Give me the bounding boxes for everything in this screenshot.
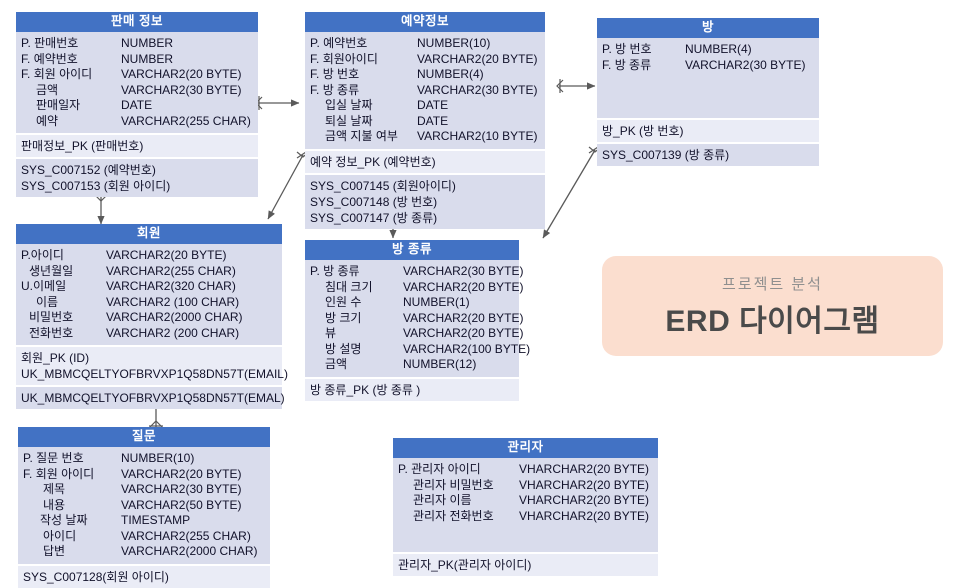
entity-fk-section: SYS_C007152 (예약번호) SYS_C007153 (회원 아이디) [16, 159, 258, 197]
attribute-row: 예약 VARCHAR2(255 CHAR) [16, 114, 258, 130]
attribute-row: 생년월일 VARCHAR2(255 CHAR) [16, 264, 282, 280]
relation-sales-to-reservation [256, 96, 299, 110]
constraint-line: UK_MBMCQELTYOFBRVXP1Q58DN57T(EMAIL) [21, 366, 277, 382]
constraint-line: 관리자_PK(관리자 아이디) [398, 557, 653, 573]
attribute-row: F. 방 종류 VARCHAR2(30 BYTE) [305, 83, 545, 99]
attribute-name: 생년월일 [16, 264, 106, 280]
attribute-type: VARCHAR2 (200 CHAR) [106, 326, 282, 342]
attribute-type: VHARCHAR2(20 BYTE) [519, 509, 658, 525]
attribute-name: 뷰 [305, 326, 403, 342]
attribute-type: VARCHAR2(255 CHAR) [121, 114, 258, 130]
attribute-name: F. 방 번호 [305, 67, 417, 83]
attribute-name: 방 설명 [305, 342, 403, 358]
attribute-type: VARCHAR2(255 CHAR) [106, 264, 282, 280]
attribute-type: NUMBER(4) [685, 42, 819, 58]
attribute-name: 침대 크기 [305, 280, 403, 296]
attribute-type: NUMBER [121, 36, 258, 52]
attribute-row: F. 방 번호 NUMBER(4) [305, 67, 545, 83]
attribute-type: VHARCHAR2(20 BYTE) [519, 462, 658, 478]
attribute-name: P.아이디 [16, 248, 106, 264]
attribute-row: 내용 VARCHAR2(50 BYTE) [18, 498, 270, 514]
attribute-row: 관리자 이름 VHARCHAR2(20 BYTE) [393, 493, 658, 509]
attribute-row: 금액 지불 여부 VARCHAR2(10 BYTE) [305, 129, 545, 145]
entity-title: 방 [597, 18, 819, 38]
attribute-row: 작성 날짜 TIMESTAMP [18, 513, 270, 529]
attribute-row: 이름 VARCHAR2 (100 CHAR) [16, 295, 282, 311]
attribute-row: U.이메일 VARCHAR2(320 CHAR) [16, 279, 282, 295]
entity-fk-section: SYS_C007128(회원 아이디) [18, 566, 270, 588]
entity-room-type[interactable]: 방 종류 P. 방 종류 VARCHAR2(30 BYTE) 침대 크기 VAR… [305, 240, 519, 401]
attribute-row: 방 크기 VARCHAR2(20 BYTE) [305, 311, 519, 327]
constraint-line: SYS_C007145 (회원아이디) [310, 178, 540, 194]
entity-attributes: P. 관리자 아이디 VHARCHAR2(20 BYTE) 관리자 비밀번호 V… [393, 458, 658, 552]
attribute-type: NUMBER(12) [403, 357, 519, 373]
entity-question[interactable]: 질문 P. 질문 번호 NUMBER(10) F. 회원 아이디 VARCHAR… [18, 427, 270, 588]
constraint-line: SYS_C007128(회원 아이디) [23, 569, 265, 585]
attribute-type: VARCHAR2(20 BYTE) [106, 248, 282, 264]
constraint-line: UK_MBMCQELTYOFBRVXP1Q58DN57T(EMAL) [21, 390, 277, 406]
attribute-row: 침대 크기 VARCHAR2(20 BYTE) [305, 280, 519, 296]
attribute-row: P. 질문 번호 NUMBER(10) [18, 451, 270, 467]
attribute-type: VARCHAR2(50 BYTE) [121, 498, 270, 514]
attribute-type: DATE [121, 98, 258, 114]
entity-member[interactable]: 회원 P.아이디 VARCHAR2(20 BYTE) 생년월일 VARCHAR2… [16, 224, 282, 409]
attribute-row: 입실 날짜 DATE [305, 98, 545, 114]
entity-title: 질문 [18, 427, 270, 447]
entity-title: 방 종류 [305, 240, 519, 260]
attribute-row: 판매일자 DATE [16, 98, 258, 114]
entity-sales-info[interactable]: 판매 정보 P. 판매번호 NUMBER F. 예약번호 NUMBER F. 회… [16, 12, 258, 197]
attribute-type: VARCHAR2(2000 CHAR) [121, 544, 270, 560]
attribute-type: VARCHAR2(20 BYTE) [403, 311, 523, 327]
attribute-row: 제목 VARCHAR2(30 BYTE) [18, 482, 270, 498]
entity-fk-section: SYS_C007145 (회원아이디) SYS_C007148 (방 번호) S… [305, 175, 545, 229]
attribute-name: 관리자 비밀번호 [393, 478, 519, 494]
entity-attributes: P.아이디 VARCHAR2(20 BYTE) 생년월일 VARCHAR2(25… [16, 244, 282, 345]
attribute-name: P. 방 종류 [305, 264, 403, 280]
attribute-name: 퇴실 날짜 [305, 114, 417, 130]
entity-attributes: P. 예약번호 NUMBER(10) F. 회원아이디 VARCHAR2(20 … [305, 32, 545, 149]
attribute-row: 금액 VARCHAR2(30 BYTE) [16, 83, 258, 99]
relation-reservation-to-room [557, 79, 595, 93]
attribute-type: VARCHAR2(20 BYTE) [403, 280, 523, 296]
attribute-row: 금액 NUMBER(12) [305, 357, 519, 373]
relation-room-to-roomtype [543, 145, 601, 238]
attribute-name: P. 방 번호 [597, 42, 685, 58]
attribute-name: U.이메일 [16, 279, 106, 295]
attribute-type: VARCHAR2 (100 CHAR) [106, 295, 282, 311]
attribute-row: 관리자 전화번호 VHARCHAR2(20 BYTE) [393, 509, 658, 525]
constraint-line: 예약 정보_PK (예약번호) [310, 154, 540, 170]
attribute-row: F. 회원아이디 VARCHAR2(20 BYTE) [305, 52, 545, 68]
entity-pk-section: 예약 정보_PK (예약번호) [305, 151, 545, 173]
entity-attributes: P. 방 번호 NUMBER(4) F. 방 종류 VARCHAR2(30 BY… [597, 38, 819, 118]
attribute-row: P. 예약번호 NUMBER(10) [305, 36, 545, 52]
attribute-row: P. 판매번호 NUMBER [16, 36, 258, 52]
attribute-type: VARCHAR2(20 BYTE) [403, 326, 523, 342]
attribute-row: 방 설명 VARCHAR2(100 BYTE) [305, 342, 519, 358]
attribute-row: 뷰 VARCHAR2(20 BYTE) [305, 326, 519, 342]
entity-pk-section: 방_PK (방 번호) [597, 120, 819, 142]
attribute-row: 전화번호 VARCHAR2 (200 CHAR) [16, 326, 282, 342]
attribute-row: 인원 수 NUMBER(1) [305, 295, 519, 311]
entity-room[interactable]: 방 P. 방 번호 NUMBER(4) F. 방 종류 VARCHAR2(30 … [597, 18, 819, 166]
attribute-name: P. 예약번호 [305, 36, 417, 52]
attribute-type: DATE [417, 98, 545, 114]
entity-title: 판매 정보 [16, 12, 258, 32]
attribute-type: NUMBER(10) [417, 36, 545, 52]
attribute-type: VARCHAR2(30 BYTE) [403, 264, 523, 280]
attribute-name: F. 회원 아이디 [18, 467, 121, 483]
attribute-type: VARCHAR2(30 BYTE) [121, 83, 258, 99]
title-main: ERD 다이어그램 [665, 296, 879, 340]
attribute-name: 금액 [16, 83, 121, 99]
attribute-row: P. 방 종류 VARCHAR2(30 BYTE) [305, 264, 519, 280]
attribute-type: TIMESTAMP [121, 513, 270, 529]
attribute-name: F. 회원아이디 [305, 52, 417, 68]
attribute-row: 퇴실 날짜 DATE [305, 114, 545, 130]
attribute-row: 아이디 VARCHAR2(255 CHAR) [18, 529, 270, 545]
attribute-name: 금액 [305, 357, 403, 373]
entity-pk-section: 관리자_PK(관리자 아이디) [393, 554, 658, 576]
entity-uk-section: UK_MBMCQELTYOFBRVXP1Q58DN57T(EMAL) [16, 387, 282, 409]
attribute-row: F. 회원 아이디 VARCHAR2(20 BYTE) [18, 467, 270, 483]
entity-attributes: P. 방 종류 VARCHAR2(30 BYTE) 침대 크기 VARCHAR2… [305, 260, 519, 377]
attribute-row: 비밀번호 VARCHAR2(2000 CHAR) [16, 310, 282, 326]
attribute-type: NUMBER(1) [403, 295, 519, 311]
attribute-type: VARCHAR2(100 BYTE) [403, 342, 530, 358]
attribute-type: VARCHAR2(320 CHAR) [106, 279, 282, 295]
constraint-line: SYS_C007152 (예약번호) [21, 162, 253, 178]
attribute-row: 답변 VARCHAR2(2000 CHAR) [18, 544, 270, 560]
constraint-line: SYS_C007139 (방 종류) [602, 147, 814, 163]
attribute-type: VARCHAR2(30 BYTE) [685, 58, 819, 74]
attribute-name: 제목 [18, 482, 121, 498]
attribute-type: VHARCHAR2(20 BYTE) [519, 478, 658, 494]
constraint-line: SYS_C007148 (방 번호) [310, 194, 540, 210]
entity-attributes: P. 질문 번호 NUMBER(10) F. 회원 아이디 VARCHAR2(2… [18, 447, 270, 564]
attribute-type: VARCHAR2(20 BYTE) [121, 467, 270, 483]
attribute-name: 답변 [18, 544, 121, 560]
attribute-name: 관리자 이름 [393, 493, 519, 509]
attribute-type: VARCHAR2(20 BYTE) [417, 52, 545, 68]
entity-pk-section: 방 종류_PK (방 종류 ) [305, 379, 519, 401]
erd-canvas: 판매 정보 P. 판매번호 NUMBER F. 예약번호 NUMBER F. 회… [0, 0, 963, 586]
attribute-type: NUMBER [121, 52, 258, 68]
constraint-line: SYS_C007147 (방 종류) [310, 210, 540, 226]
attribute-type: VHARCHAR2(20 BYTE) [519, 493, 658, 509]
attribute-name: 비밀번호 [16, 310, 106, 326]
attribute-name: 방 크기 [305, 311, 403, 327]
attribute-name: F. 방 종류 [305, 83, 417, 99]
attribute-type: VARCHAR2(10 BYTE) [417, 129, 545, 145]
attribute-name: F. 방 종류 [597, 58, 685, 74]
relation-sales-to-member [94, 195, 108, 224]
attribute-name: P. 관리자 아이디 [393, 462, 519, 478]
attribute-name: 내용 [18, 498, 121, 514]
attribute-name: 판매일자 [16, 98, 121, 114]
attribute-type: DATE [417, 114, 545, 130]
constraint-line: 회원_PK (ID) [21, 350, 277, 366]
attribute-name: 예약 [16, 114, 121, 130]
attribute-name: 전화번호 [16, 326, 106, 342]
attribute-row: P.아이디 VARCHAR2(20 BYTE) [16, 248, 282, 264]
attribute-type: NUMBER(10) [121, 451, 270, 467]
entity-title: 관리자 [393, 438, 658, 458]
attribute-row: F. 예약번호 NUMBER [16, 52, 258, 68]
constraint-line: 판매정보_PK (판매번호) [21, 138, 253, 154]
attribute-row: 관리자 비밀번호 VHARCHAR2(20 BYTE) [393, 478, 658, 494]
attribute-type: VARCHAR2(20 BYTE) [121, 67, 258, 83]
attribute-type: VARCHAR2(30 BYTE) [417, 83, 545, 99]
relation-reservation-to-member [268, 150, 309, 219]
entity-attributes: P. 판매번호 NUMBER F. 예약번호 NUMBER F. 회원 아이디 … [16, 32, 258, 133]
constraint-line: SYS_C007153 (회원 아이디) [21, 178, 253, 194]
attribute-name: F. 회원 아이디 [16, 67, 121, 83]
attribute-name: 이름 [16, 295, 106, 311]
attribute-name: P. 판매번호 [16, 36, 121, 52]
attribute-name: 관리자 전화번호 [393, 509, 519, 525]
entity-pk-section: 판매정보_PK (판매번호) [16, 135, 258, 157]
entity-admin[interactable]: 관리자 P. 관리자 아이디 VHARCHAR2(20 BYTE) 관리자 비밀… [393, 438, 658, 576]
attribute-name: 아이디 [18, 529, 121, 545]
attribute-type: VARCHAR2(255 CHAR) [121, 529, 270, 545]
attribute-type: VARCHAR2(2000 CHAR) [106, 310, 282, 326]
title-card: 프로젝트 분석 ERD 다이어그램 [602, 256, 943, 356]
entity-reservation-info[interactable]: 예약정보 P. 예약번호 NUMBER(10) F. 회원아이디 VARCHAR… [305, 12, 545, 229]
entity-pk-section: 회원_PK (ID) UK_MBMCQELTYOFBRVXP1Q58DN57T(… [16, 347, 282, 385]
attribute-row: P. 관리자 아이디 VHARCHAR2(20 BYTE) [393, 462, 658, 478]
attribute-name: 입실 날짜 [305, 98, 417, 114]
attribute-name: 금액 지불 여부 [305, 129, 417, 145]
attribute-name: P. 질문 번호 [18, 451, 121, 467]
attribute-name: 인원 수 [305, 295, 403, 311]
title-subtitle: 프로젝트 분석 [722, 273, 823, 294]
attribute-type: VARCHAR2(30 BYTE) [121, 482, 270, 498]
attribute-row: P. 방 번호 NUMBER(4) [597, 42, 819, 58]
attribute-name: F. 예약번호 [16, 52, 121, 68]
attribute-name: 작성 날짜 [18, 513, 121, 529]
constraint-line: 방 종류_PK (방 종류 ) [310, 382, 514, 398]
attribute-row: F. 회원 아이디 VARCHAR2(20 BYTE) [16, 67, 258, 83]
entity-fk-section: SYS_C007139 (방 종류) [597, 144, 819, 166]
attribute-row: F. 방 종류 VARCHAR2(30 BYTE) [597, 58, 819, 74]
constraint-line: 방_PK (방 번호) [602, 123, 814, 139]
entity-title: 회원 [16, 224, 282, 244]
attribute-type: NUMBER(4) [417, 67, 545, 83]
entity-title: 예약정보 [305, 12, 545, 32]
